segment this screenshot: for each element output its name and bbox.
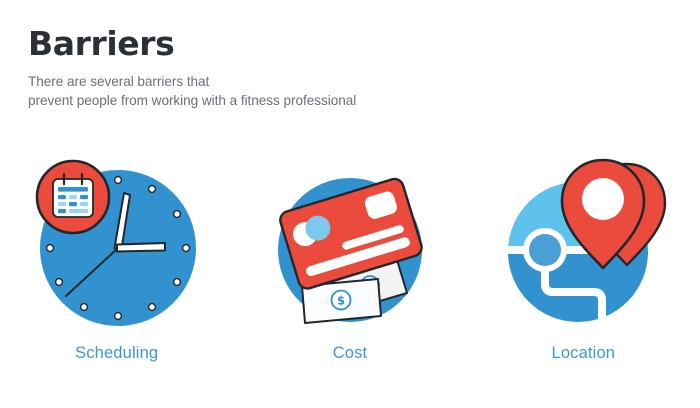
barriers-list: Scheduling $ [0, 146, 700, 363]
minute-hand [117, 243, 165, 252]
barrier-card-scheduling[interactable]: Scheduling [0, 146, 233, 363]
barrier-card-cost[interactable]: $ $ [233, 146, 466, 363]
barrier-card-location[interactable]: Location [467, 146, 700, 363]
page-subtitle: There are several barriers that prevent … [28, 72, 648, 111]
barrier-label-scheduling: Scheduling [75, 344, 158, 363]
slide-canvas: Barriers There are several barriers that… [0, 0, 700, 408]
clock-calendar-icon [22, 146, 212, 338]
road-node [523, 228, 567, 272]
credit-card-cash-icon: $ $ [255, 146, 445, 338]
barrier-label-cost: Cost [333, 344, 368, 363]
page-title: Barriers [28, 26, 648, 63]
calendar-badge [37, 161, 109, 233]
barrier-label-location: Location [552, 344, 616, 363]
map-pin-icon [488, 146, 678, 338]
svg-text:$: $ [337, 294, 345, 308]
header: Barriers There are several barriers that… [28, 26, 648, 111]
